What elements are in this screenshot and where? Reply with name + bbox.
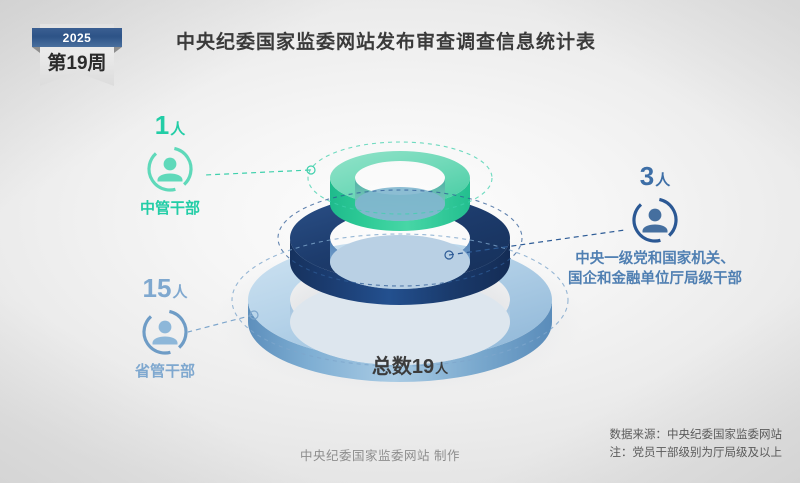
callout-tingju: 3人 中央一级党和国家机关、 国企和金融单位厅局级干部 — [520, 163, 790, 289]
callout-label-zhongguan: 中管干部 — [110, 199, 230, 219]
callout-label-shengguan: 省管干部 — [100, 362, 230, 382]
ring-segment-zhongguan — [330, 151, 470, 231]
callout-value-tingju: 3人 — [520, 163, 790, 189]
callout-label-tingju-line2: 国企和金融单位厅局级干部 — [520, 270, 790, 290]
callout-label-tingju-line1: 中央一级党和国家机关、 — [520, 250, 790, 270]
footer-credit: 中央纪委国家监委网站 制作 — [300, 445, 460, 464]
footer-source: 数据来源：中央纪委国家监委网站 — [610, 427, 783, 445]
callout-shengguan: 15人 省管干部 — [100, 275, 230, 382]
callout-value-zhongguan: 1人 — [110, 112, 230, 138]
badge-year: 2025 — [63, 31, 92, 45]
footer-source-block: 数据来源：中央纪委国家监委网站 注：党员干部级别为厅局级及以上 — [610, 427, 783, 463]
person-ring-icon — [139, 306, 191, 358]
footer-note: 注：党员干部级别为厅局级及以上 — [610, 445, 783, 463]
callout-value-shengguan: 15人 — [100, 275, 230, 301]
person-ring-icon — [629, 194, 681, 246]
callout-zhongguan: 1人 中管干部 — [110, 112, 230, 219]
total-label: 总数19人 — [330, 350, 490, 379]
infographic-canvas: 2025 第19周 中央纪委国家监委网站发布审查调查信息统计表 — [0, 0, 800, 483]
person-ring-icon — [144, 143, 196, 195]
